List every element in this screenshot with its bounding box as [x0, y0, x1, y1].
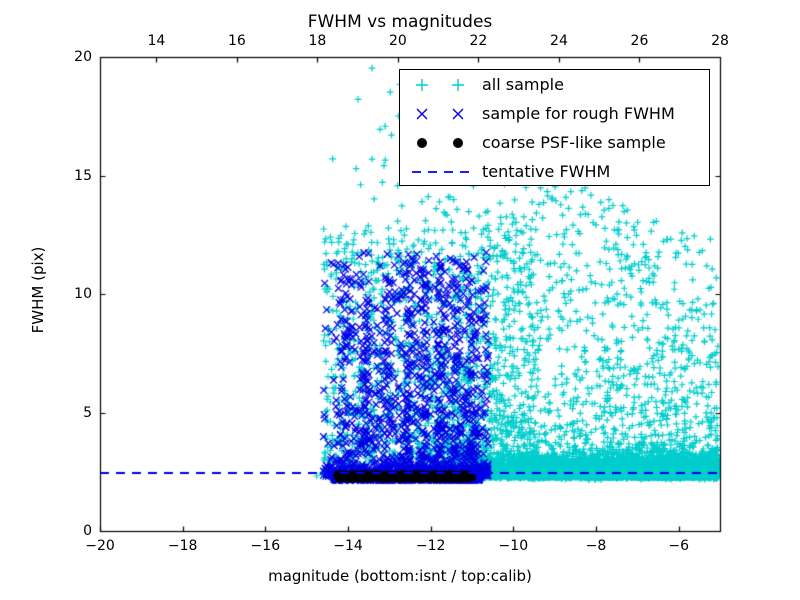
legend-item[interactable]: all sample [400, 70, 709, 99]
cross-marker-icon [400, 99, 482, 128]
legend-item[interactable]: sample for rough FWHM [400, 99, 709, 128]
figure-canvas-container: FWHM vs magnitudes magnitude (bottom:isn… [0, 0, 800, 600]
plus-marker-icon [400, 70, 482, 99]
chart-legend[interactable]: all samplesample for rough FWHMcoarse PS… [399, 69, 710, 186]
x-tick-bottom: −10 [499, 538, 529, 554]
legend-item[interactable]: tentative FWHM [400, 157, 709, 186]
x-tick-bottom: −18 [168, 538, 198, 554]
y-tick: 0 [83, 523, 92, 539]
x-tick-bottom: −6 [668, 538, 689, 554]
y-tick: 5 [83, 405, 92, 421]
x-tick-top: 26 [631, 33, 649, 49]
x-tick-top: 14 [147, 33, 165, 49]
x-tick-bottom: −12 [416, 538, 446, 554]
legend-item-label: sample for rough FWHM [482, 104, 675, 123]
x-tick-bottom: −14 [333, 538, 363, 554]
y-tick: 10 [74, 286, 92, 302]
x-tick-top: 28 [711, 33, 729, 49]
x-tick-bottom: −16 [251, 538, 281, 554]
dashed-line-icon [400, 157, 482, 186]
legend-item-label: coarse PSF-like sample [482, 133, 666, 152]
dot-marker-icon [400, 128, 482, 157]
legend-item-label: all sample [482, 75, 564, 94]
x-tick-top: 24 [550, 33, 568, 49]
x-tick-top: 16 [228, 33, 246, 49]
legend-item-label: tentative FWHM [482, 162, 610, 181]
x-tick-top: 18 [308, 33, 326, 49]
x-tick-top: 20 [389, 33, 407, 49]
x-tick-bottom: −8 [586, 538, 607, 554]
x-tick-top: 22 [470, 33, 488, 49]
y-tick: 15 [74, 168, 92, 184]
y-tick: 20 [74, 49, 92, 65]
x-tick-bottom: −20 [85, 538, 115, 554]
legend-item[interactable]: coarse PSF-like sample [400, 128, 709, 157]
